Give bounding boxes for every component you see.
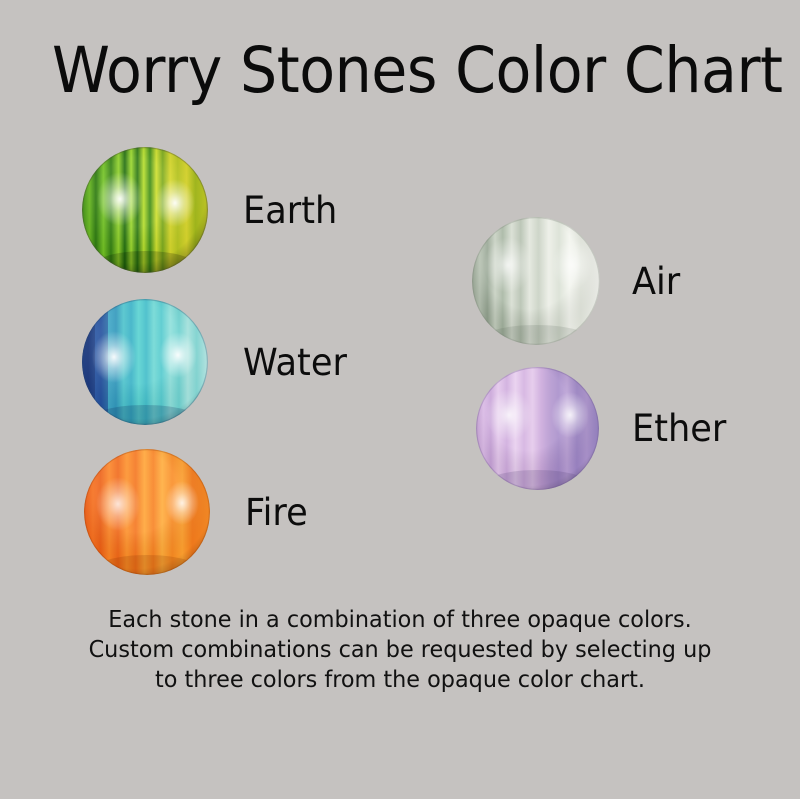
earth-stone-sphere [82,147,208,273]
ether-stone-sphere [476,367,599,490]
stone-label-fire: Fire [245,494,308,531]
water-stone-sphere [82,299,208,425]
stone-label-ether: Ether [632,410,726,447]
stone-label-air: Air [632,263,680,300]
color-chart-page: Worry Stones Color Chart [0,0,800,799]
stone-entry-earth: Earth [82,147,342,273]
stone-entry-ether: Ether [476,367,731,490]
caption-line-2: Custom combinations can be requested by … [20,634,780,664]
stone-entry-fire: Fire [84,449,311,575]
stone-entry-air: Air [472,217,683,345]
caption-block: Each stone in a combination of three opa… [0,604,800,694]
caption-line-3: to three colors from the opaque color ch… [20,664,780,694]
stone-entry-water: Water [82,299,352,425]
stone-label-earth: Earth [243,192,337,229]
caption-line-1: Each stone in a combination of three opa… [20,604,780,634]
stone-label-water: Water [243,344,347,381]
page-title: Worry Stones Color Chart [52,38,783,104]
fire-stone-sphere [84,449,210,575]
air-stone-sphere [472,217,600,345]
